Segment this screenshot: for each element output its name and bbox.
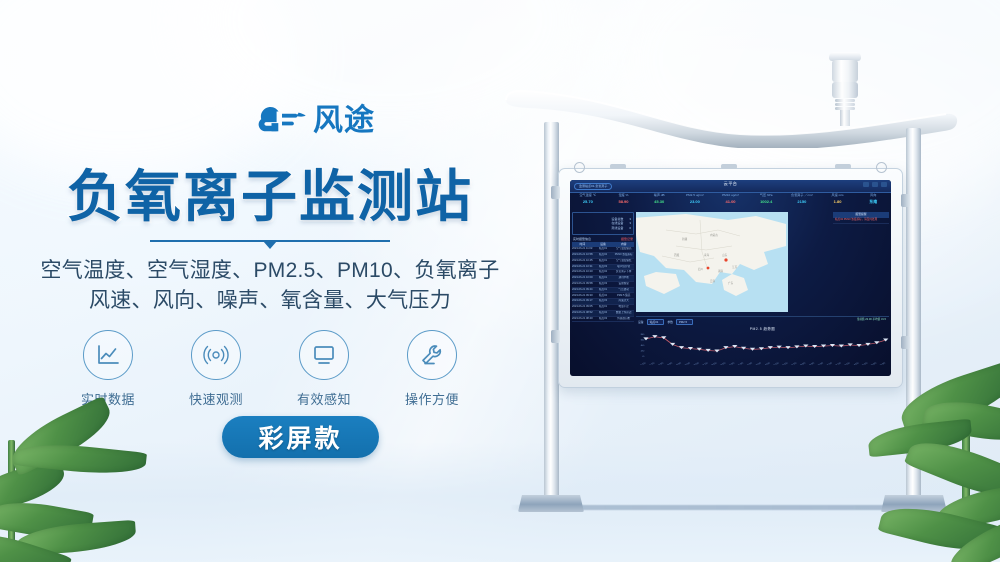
- feature-item-fast-observation: 快速观测: [177, 330, 255, 408]
- table-cell: 2023-06-21 10:20:38: [572, 270, 593, 275]
- svg-text:0: 0: [642, 355, 644, 358]
- monitor-icon: [299, 330, 349, 380]
- table-cell: 站点03: [593, 265, 614, 270]
- sensor-lower-body: [832, 82, 858, 98]
- svg-text:20:00: 20:00: [815, 362, 824, 366]
- table-cell: 站点02: [593, 293, 614, 298]
- svg-text:02:00: 02:00: [656, 362, 665, 366]
- table-cell: 设备恢复: [613, 282, 634, 287]
- table-row[interactable]: 2023-06-21 08:40:19站点03传感器自检: [572, 317, 634, 323]
- svg-text:40: 40: [641, 344, 645, 347]
- svg-text:广东: 广东: [728, 281, 734, 285]
- kpi-item: 负氧离子 ／cm³2150: [784, 192, 820, 210]
- table-cell: 2023-06-21 09:58:11: [572, 282, 593, 287]
- table-cell: 站点03: [593, 299, 614, 304]
- kpi-label: 风向: [855, 194, 891, 197]
- line-chart-icon: [83, 330, 133, 380]
- chart-device-select[interactable]: 站点01: [647, 319, 665, 325]
- cta-button[interactable]: 彩屏款: [222, 416, 379, 458]
- table-cell: 2023-06-21 10:45:07: [572, 259, 593, 264]
- svg-text:新疆: 新疆: [682, 237, 688, 241]
- promo-banner: 风途 负氧离子监测站 空气温度、空气湿度、PM2.5、PM10、负氧离子 风速、…: [0, 0, 1000, 562]
- feature-item-easy-operation: 操作方便: [393, 330, 471, 408]
- svg-text:04:00: 04:00: [673, 362, 682, 366]
- table-cell: 2023-06-21 09:05:10: [572, 305, 593, 310]
- table-cell: 2023-06-21 08:52:44: [572, 311, 593, 316]
- table-cell: 站点01: [593, 288, 614, 293]
- table-cell: 空气温度偏高: [613, 247, 634, 252]
- table-cell: 数据上传延迟: [613, 311, 634, 316]
- svg-text:21:00: 21:00: [824, 362, 833, 366]
- svg-text:24:00: 24:00: [851, 362, 860, 366]
- svg-text:13:00: 13:00: [753, 362, 762, 366]
- svg-text:12:00: 12:00: [744, 362, 753, 366]
- table-cell: 站点03: [593, 317, 614, 322]
- table-cell: 站点02: [593, 270, 614, 275]
- svg-text:27:00: 27:00: [878, 362, 887, 366]
- base-plate-left: [518, 495, 584, 512]
- mount-tab: [835, 164, 851, 169]
- feature-list: 实时数据 快速观测: [0, 330, 540, 408]
- kpi-value: 东南: [855, 200, 891, 204]
- kpi-label: PM10 ug/m³: [713, 194, 749, 197]
- wrench-icon: [407, 330, 457, 380]
- kpi-value: 45.30: [641, 200, 677, 204]
- cabinet-hinge-bottom: [551, 330, 560, 343]
- table-cell: 站点01: [593, 259, 614, 264]
- support-pole-left: [544, 122, 559, 507]
- summary-label: 离线设备: [611, 227, 623, 230]
- table-cell: 负氧离子下降: [613, 270, 634, 275]
- table-cell: 电量不足: [613, 305, 634, 310]
- svg-text:09:00: 09:00: [718, 362, 727, 366]
- svg-text:青海: 青海: [704, 253, 710, 257]
- table-cell: 噪声值异常: [613, 265, 634, 270]
- kpi-item: 空气温度 ℃25.70: [570, 192, 606, 210]
- svg-text:03:00: 03:00: [664, 362, 673, 366]
- cabinet-lock-bottom: [901, 336, 910, 349]
- svg-text:16:00: 16:00: [780, 362, 789, 366]
- dashboard-header-icons: [863, 182, 887, 187]
- sensor-stem: [840, 110, 850, 126]
- china-map[interactable]: 新疆内蒙古 西藏青海 山东四川 湖南江苏 云南广东: [636, 212, 788, 312]
- kpi-label: 空气温度 ℃: [570, 194, 606, 197]
- svg-text:23:00: 23:00: [842, 362, 851, 366]
- summary-label: 在线设备: [611, 222, 623, 225]
- cabinet-lock-top: [901, 194, 910, 207]
- kpi-label: 湿度 %: [606, 194, 642, 197]
- table-cell: 2023-06-21 10:31:52: [572, 265, 593, 270]
- feature-label: 快速观测: [177, 389, 255, 408]
- table-cell: PM10 浓度超标: [613, 253, 634, 258]
- alarm-tag[interactable]: 报警记录: [621, 238, 633, 241]
- feature-item-effective-sensing: 有效感知: [285, 330, 363, 408]
- kpi-value: 23.00: [677, 200, 713, 204]
- trend-line-chart: 00:0001:0002:0003:0004:0005:0006:0007:00…: [636, 331, 889, 365]
- chart-select-left-label: 设备: [638, 321, 644, 324]
- svg-text:云南: 云南: [710, 279, 716, 283]
- svg-text:内蒙古: 内蒙古: [710, 233, 718, 237]
- svg-text:60: 60: [641, 339, 645, 342]
- svg-text:00:00: 00:00: [638, 362, 647, 366]
- mount-ring-left: [574, 162, 585, 173]
- table-cell: 站点03: [593, 282, 614, 287]
- kpi-strip: 空气温度 ℃25.70湿度 %58.90噪声 dB45.30PM2.5 ug/m…: [570, 192, 891, 210]
- mount-ring-right: [876, 162, 887, 173]
- kpi-item: 风向东南: [855, 192, 891, 210]
- wave-canopy: [500, 86, 960, 148]
- table-cell: 2023-06-21 09:17:22: [572, 299, 593, 304]
- svg-text:四川: 四川: [698, 267, 704, 271]
- svg-text:22:00: 22:00: [833, 362, 842, 366]
- table-cell: 2023-06-21 08:40:19: [572, 317, 593, 322]
- svg-text:19:00: 19:00: [807, 362, 816, 366]
- mount-tab: [610, 164, 626, 169]
- kpi-label: 噪声 dB: [641, 194, 677, 197]
- svg-text:17:00: 17:00: [789, 362, 798, 366]
- right-panel-row: 站点02 PM10 浓度超标，请及时处理: [833, 218, 889, 224]
- table-cell: 站点01: [593, 276, 614, 281]
- table-cell: 气压波动: [613, 288, 634, 293]
- table-cell: 2023-06-21 09:44:03: [572, 288, 593, 293]
- kpi-value: 1002.4: [748, 200, 784, 204]
- grid-icon[interactable]: [863, 182, 869, 187]
- kpi-value: 41.00: [713, 200, 749, 204]
- table-cell: 2023-06-21 11:02:31: [572, 247, 593, 252]
- led-display-screen[interactable]: 监测站点01-负氧离子 云平台 空气温度 ℃25.70湿度 %58.90噪声 d…: [570, 180, 891, 376]
- chart-icon[interactable]: [872, 182, 878, 187]
- svg-text:山东: 山东: [722, 253, 728, 257]
- svg-text:18:00: 18:00: [798, 362, 807, 366]
- hero-content: 风途 负氧离子监测站 空气温度、空气湿度、PM2.5、PM10、负氧离子 风速、…: [0, 0, 540, 562]
- kpi-value: 2150: [784, 200, 820, 204]
- mount-tab: [721, 164, 737, 169]
- table-cell: 站点01: [593, 247, 614, 252]
- feature-label: 有效感知: [285, 389, 363, 408]
- cabinet-hinge-top: [551, 186, 560, 199]
- kpi-item: PM2.5 ug/m³23.00: [677, 192, 713, 210]
- sensor-fin: [835, 99, 855, 102]
- chart-param-select[interactable]: PM2.5: [676, 319, 693, 325]
- brand-logo: 风途: [258, 104, 375, 138]
- table-cell: 2023-06-21 10:58:14: [572, 253, 593, 258]
- hero-subtitle: 空气温度、空气湿度、PM2.5、PM10、负氧离子 风速、风向、噪声、氧含量、大…: [0, 256, 540, 316]
- table-cell: 通讯中断: [613, 276, 634, 281]
- kpi-label: 负氧离子 ／cm³: [784, 194, 820, 197]
- svg-text:07:00: 07:00: [700, 362, 709, 366]
- table-cell: 站点01: [593, 305, 614, 310]
- cloud-leaf-logo-icon: [258, 104, 306, 138]
- kpi-label: 气压 hPa: [748, 194, 784, 197]
- kpi-value: 1.80: [820, 200, 856, 204]
- dashboard: 监测站点01-负氧离子 云平台 空气温度 ℃25.70湿度 %58.90噪声 d…: [570, 180, 891, 376]
- svg-text:14:00: 14:00: [762, 362, 771, 366]
- ultrasonic-weather-sensor: [825, 52, 865, 124]
- svg-text:08:00: 08:00: [709, 362, 718, 366]
- page-title: 负氧离子监测站: [0, 152, 540, 233]
- title-divider: [150, 240, 390, 242]
- kpi-label: PM2.5 ug/m³: [677, 194, 713, 197]
- device-summary-row: 离线设备0: [575, 227, 631, 230]
- device-summary: 设备总数3在线设备3离线设备0: [572, 212, 634, 235]
- summary-value: 3: [629, 222, 631, 225]
- sensor-fin: [835, 103, 855, 106]
- kpi-item: 噪声 dB45.30: [641, 192, 677, 210]
- table-cell: 风速过大: [613, 299, 634, 304]
- subtitle-line-1: 空气温度、空气湿度、PM2.5、PM10、负氧离子: [0, 256, 540, 286]
- radar-scan-icon: [191, 330, 241, 380]
- brand-logo-text: 风途: [313, 106, 375, 136]
- feature-item-realtime-data: 实时数据: [69, 330, 147, 408]
- svg-text:26:00: 26:00: [869, 362, 878, 366]
- svg-text:25:00: 25:00: [860, 362, 869, 366]
- svg-text:05:00: 05:00: [682, 362, 691, 366]
- table-cell: 2023-06-21 09:30:47: [572, 293, 593, 298]
- chart-legend: 当前值 23.00 平均值 31.5: [857, 319, 886, 322]
- display-cabinet: 监测站点01-负氧离子 云平台 空气温度 ℃25.70湿度 %58.90噪声 d…: [558, 168, 903, 388]
- kpi-item: PM10 ug/m³41.00: [713, 192, 749, 210]
- kpi-item: 气压 hPa1002.4: [748, 192, 784, 210]
- svg-text:80: 80: [641, 333, 645, 336]
- kpi-value: 25.70: [570, 200, 606, 204]
- svg-text:湖南: 湖南: [718, 269, 724, 273]
- dashboard-right-panel: 报警提醒 站点02 PM10 浓度超标，请及时处理: [833, 212, 889, 312]
- kpi-item: 风速 m/s1.80: [820, 192, 856, 210]
- chart-select-right-label: 参数: [667, 321, 673, 324]
- svg-text:20: 20: [641, 350, 645, 353]
- alarm-table-body: 2023-06-21 11:02:31站点01空气温度偏高2023-06-21 …: [572, 247, 634, 322]
- kpi-value: 58.90: [606, 200, 642, 204]
- trend-chart-panel: 设备 站点01 参数 PM2.5 当前值 23.00 平均值 31.5 PM2.…: [636, 316, 889, 374]
- svg-text:15:00: 15:00: [771, 362, 780, 366]
- svg-text:06:00: 06:00: [691, 362, 700, 366]
- kpi-item: 湿度 %58.90: [606, 192, 642, 210]
- sensor-upper-body: [832, 60, 858, 82]
- table-cell: 站点02: [593, 311, 614, 316]
- kpi-label: 风速 m/s: [820, 194, 856, 197]
- table-cell: 2023-06-21 10:09:26: [572, 276, 593, 281]
- summary-value: 0: [629, 227, 631, 230]
- device-summary-row: 在线设备3: [575, 222, 631, 225]
- alarm-table-label: 实时报警信息: [573, 238, 591, 241]
- table-cell: 空气湿度偏低: [613, 259, 634, 264]
- monitoring-station-device: 监测站点01-负氧离子 云平台 空气温度 ℃25.70湿度 %58.90噪声 d…: [500, 0, 1000, 562]
- svg-text:西藏: 西藏: [674, 253, 680, 257]
- svg-text:江苏: 江苏: [732, 265, 738, 269]
- subtitle-line-2: 风速、风向、噪声、氧含量、大气压力: [0, 286, 540, 316]
- table-cell: PM2.5 偏高: [613, 293, 634, 298]
- settings-icon[interactable]: [881, 182, 887, 187]
- svg-text:01:00: 01:00: [647, 362, 656, 366]
- table-cell: 传感器自检: [613, 317, 634, 322]
- dashboard-title: 云平台: [570, 182, 891, 186]
- table-cell: 站点02: [593, 253, 614, 258]
- dashboard-left-panel: 设备总数3在线设备3离线设备0 实时报警信息 报警记录 时间设备内容 2023-…: [572, 212, 634, 374]
- svg-text:10:00: 10:00: [727, 362, 736, 366]
- svg-text:11:00: 11:00: [736, 362, 745, 366]
- feature-label: 操作方便: [393, 389, 471, 408]
- chart-filter-bar: 设备 站点01 参数 PM2.5 当前值 23.00 平均值 31.5: [636, 317, 889, 327]
